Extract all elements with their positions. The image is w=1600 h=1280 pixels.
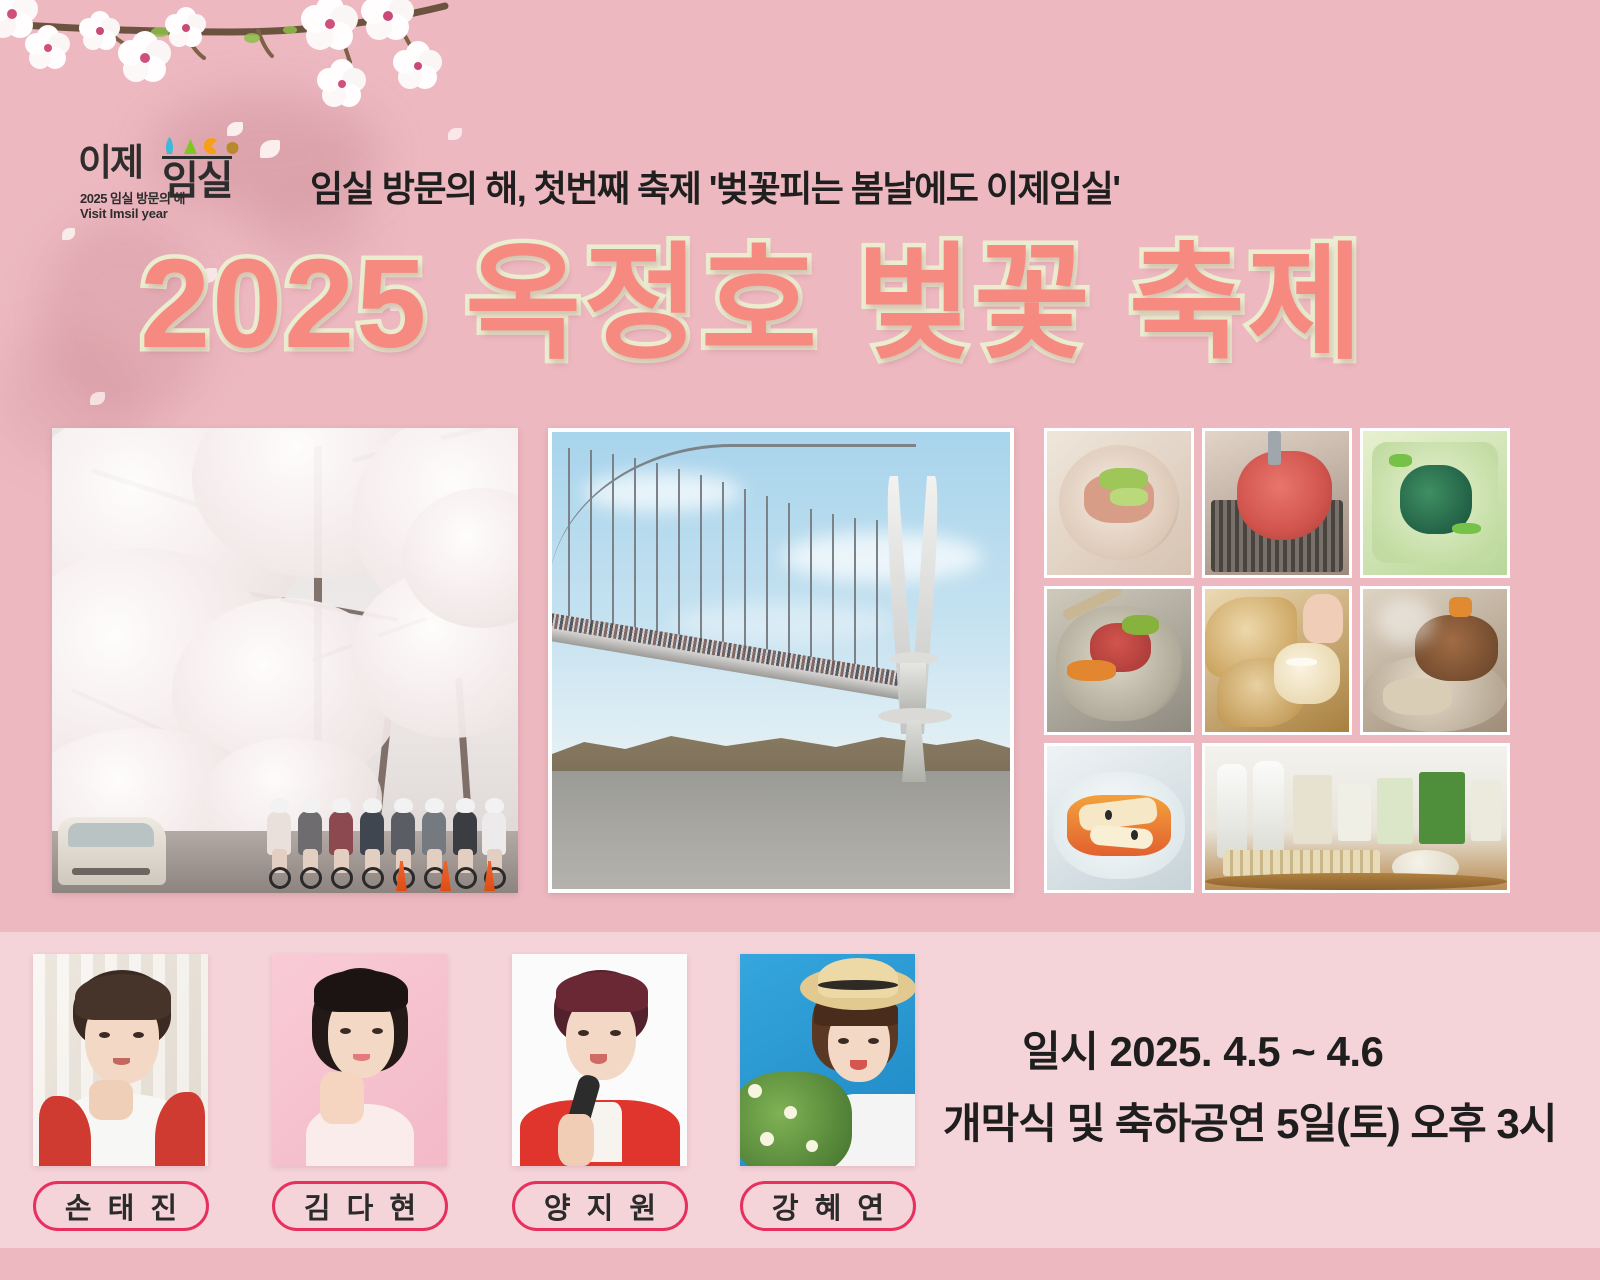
food-photo-green-dumplings [1360, 428, 1510, 578]
festival-subtitle: 임실 방문의 해, 첫번째 축제 '벚꽃피는 봄날에도 이제임실' [310, 160, 1370, 212]
falling-petal [62, 228, 75, 240]
bridge-hanger-cable [634, 458, 636, 644]
festival-date-text: 일시 2025. 4.5 ~ 4.6 [1022, 1018, 1383, 1079]
performer-photo-4 [740, 954, 915, 1166]
bridge-hanger-cable [854, 518, 856, 687]
performer-name-badge: 강 혜 연 [740, 1181, 916, 1231]
falling-petal [260, 140, 280, 158]
performer-photo-3 [512, 954, 687, 1166]
food-photo-imsil-cheese-products [1202, 743, 1510, 893]
bridge-hanger-cable [832, 514, 834, 683]
okjeongho-bridge-photo [548, 428, 1014, 893]
bridge-hanger-cable [590, 450, 592, 636]
cheese-icon [204, 136, 219, 155]
food-photo-pork-soup [1044, 428, 1194, 578]
bridge-hanger-cable [568, 448, 570, 632]
food-photo-cheese-tteokbokki [1044, 743, 1194, 893]
bridge-hanger-cable [656, 463, 658, 648]
falling-petal [90, 392, 105, 405]
bridge-hanger-cable [788, 503, 790, 674]
food-photo-beef-hotpot [1360, 586, 1510, 736]
performer-photo-2 [272, 954, 447, 1166]
bridge-hanger-cable [744, 489, 746, 665]
logo-sub-korean: 2025 임실 방문의 해 [80, 188, 185, 207]
white-car [58, 817, 166, 885]
acorn-icon [225, 136, 240, 155]
food-photo-grilled-beef [1202, 428, 1352, 578]
food-photo-cheese-bungeoppang [1202, 586, 1352, 736]
performer-name-badge: 양 지 원 [512, 1181, 688, 1231]
fish-icon [162, 136, 177, 155]
bridge-pylon [882, 476, 944, 776]
observation-tower [900, 663, 926, 709]
opening-ceremony-text: 개막식 및 축하공연 5일(토) 오후 3시 [943, 1090, 1556, 1151]
bridge-hanger-cable [700, 475, 702, 656]
falling-petal [448, 128, 462, 140]
bridge-hanger-cable [678, 469, 680, 652]
festival-poster: 이제 임실 2025 임실 방문의 해 Visit Imsil year 임실 … [0, 0, 1600, 1280]
performer-name-badge: 손 태 진 [33, 1181, 209, 1231]
logo-now-text: 이제 [78, 144, 142, 181]
logo-icon-row [162, 136, 240, 155]
bridge-hanger-cable [876, 520, 878, 690]
lake-water [552, 771, 1010, 889]
mountain-icon [183, 136, 198, 155]
food-photo-yukhoe-bibimbap [1044, 586, 1194, 736]
festival-title: 2025 옥정호 벚꽃 축제 [140, 232, 1400, 377]
bridge-hanger-cable [612, 454, 614, 640]
bridge-hanger-cable [766, 496, 768, 669]
bridge-hanger-cable [810, 509, 812, 679]
imsil-brand-logo: 이제 임실 2025 임실 방문의 해 Visit Imsil year [78, 132, 263, 227]
logo-sub-english: Visit Imsil year [80, 206, 168, 221]
performer-name-badge: 김 다 현 [272, 1181, 448, 1231]
bridge-hanger-cable [722, 482, 724, 660]
performer-photo-1 [33, 954, 208, 1166]
cherry-blossom-tunnel-photo [52, 428, 518, 893]
local-food-gallery [1044, 428, 1510, 893]
